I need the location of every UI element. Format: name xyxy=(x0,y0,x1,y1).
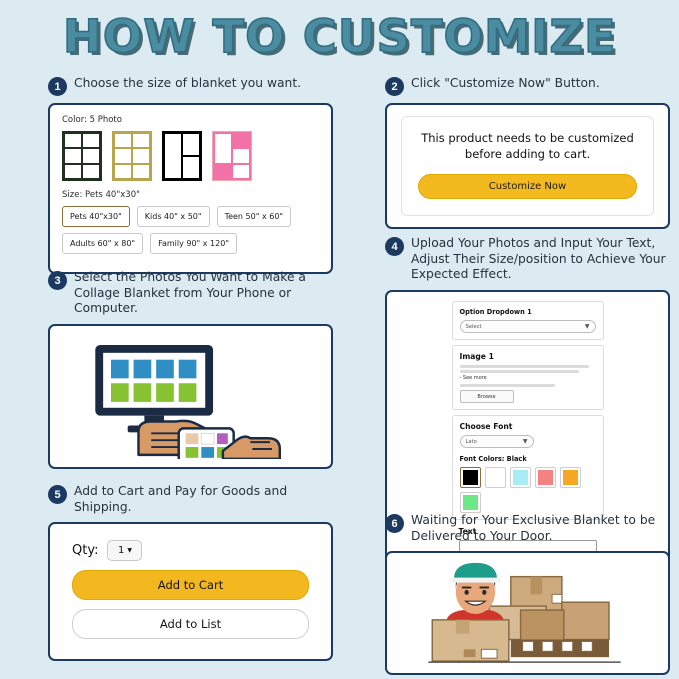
collage-gold-frame-thumb[interactable] xyxy=(112,131,152,181)
add-to-list-button[interactable]: Add to List xyxy=(72,609,309,639)
step-5-header: 5 Add to Cart and Pay for Goods and Ship… xyxy=(48,484,333,515)
font-select[interactable]: Lato ▼ xyxy=(460,435,534,448)
size-label: Size: Pets 40"x30" xyxy=(62,190,319,200)
option-dropdown-value: Select xyxy=(466,324,482,330)
swatch-black[interactable] xyxy=(460,467,481,488)
collage-pink-thumb[interactable] xyxy=(212,131,252,181)
quantity-label: Qty: xyxy=(72,543,98,558)
size-option-kids[interactable]: Kids 40" x 50" xyxy=(137,206,210,227)
chevron-down-icon: ▼ xyxy=(127,548,132,554)
step-2-badge: 2 xyxy=(385,77,404,96)
size-option-pets[interactable]: Pets 40"x30" xyxy=(62,206,130,227)
swatch-white[interactable] xyxy=(485,467,506,488)
step-6-badge: 6 xyxy=(385,514,404,533)
step-1-panel: Color: 5 Photo Size: Pets 40"x30" Pets 4… xyxy=(48,103,333,274)
font-and-colors-section: Choose Font Lato ▼ Font Colors: Black xyxy=(452,415,604,520)
quantity-stepper[interactable]: 1 ▼ xyxy=(107,540,142,561)
customize-now-button[interactable]: Customize Now xyxy=(418,174,637,199)
step-4-header: 4 Upload Your Photos and Input Your Text… xyxy=(385,236,670,283)
step-5: 5 Add to Cart and Pay for Goods and Ship… xyxy=(48,484,333,661)
image-upload-section: Image 1 - See more Browse xyxy=(452,345,604,410)
step-6-header: 6 Waiting for Your Exclusive Blanket to … xyxy=(385,513,670,544)
step-5-panel: Qty: 1 ▼ Add to Cart Add to List xyxy=(48,522,333,661)
upload-note-line xyxy=(460,384,555,387)
swatch-pink[interactable] xyxy=(535,467,556,488)
image-help-line-1 xyxy=(460,365,589,368)
monitor-phone-illustration xyxy=(58,334,323,459)
option-dropdown-select[interactable]: Select ▼ xyxy=(460,320,596,333)
page-title-wrap: HOW TO CUSTOMIZE xyxy=(0,14,679,59)
font-color-swatches xyxy=(460,467,596,513)
customize-notice-card: This product needs to be customized befo… xyxy=(401,116,654,216)
image-help-line-2 xyxy=(460,370,580,373)
step-2: 2 Click "Customize Now" Button. This pro… xyxy=(385,76,670,229)
step-2-header: 2 Click "Customize Now" Button. xyxy=(385,76,670,96)
step-3-title: Select the Photos You Want to Make a Col… xyxy=(74,270,333,317)
how-to-customize-infographic: HOW TO CUSTOMIZE 1 Choose the size of bl… xyxy=(0,0,679,679)
add-to-cart-button[interactable]: Add to Cart xyxy=(72,570,309,600)
size-option-adults[interactable]: Adults 60" x 80" xyxy=(62,233,143,254)
option-dropdown-section: Option Dropdown 1 Select ▼ xyxy=(452,301,604,340)
see-more-link[interactable]: - See more xyxy=(460,375,596,381)
collage-thumbnail-list xyxy=(62,131,319,181)
step-4-badge: 4 xyxy=(385,237,404,256)
delivery-man-illustration xyxy=(393,559,662,667)
step-2-panel: This product needs to be customized befo… xyxy=(385,103,670,229)
swatch-cyan[interactable] xyxy=(510,467,531,488)
collage-black-asymmetric-thumb[interactable] xyxy=(162,131,202,181)
step-3: 3 Select the Photos You Want to Make a C… xyxy=(48,270,333,469)
size-option-teen[interactable]: Teen 50" x 60" xyxy=(217,206,292,227)
step-2-title: Click "Customize Now" Button. xyxy=(411,76,600,92)
size-options-row-2: Adults 60" x 80" Family 90" x 120" xyxy=(62,233,319,254)
swatch-green[interactable] xyxy=(460,492,481,513)
size-option-family[interactable]: Family 90" x 120" xyxy=(150,233,237,254)
image-heading: Image 1 xyxy=(460,352,596,361)
step-3-badge: 3 xyxy=(48,271,67,290)
step-5-title: Add to Cart and Pay for Goods and Shippi… xyxy=(74,484,333,515)
step-1-title: Choose the size of blanket you want. xyxy=(74,76,301,92)
chevron-down-icon: ▼ xyxy=(523,439,528,445)
step-3-panel xyxy=(48,324,333,469)
step-6-panel xyxy=(385,551,670,675)
step-6-title: Waiting for Your Exclusive Blanket to be… xyxy=(411,513,670,544)
swatch-orange[interactable] xyxy=(560,467,581,488)
step-4-title: Upload Your Photos and Input Your Text, … xyxy=(411,236,670,283)
quantity-row: Qty: 1 ▼ xyxy=(72,540,309,561)
font-colors-heading: Font Colors: Black xyxy=(460,455,596,463)
option-dropdown-heading: Option Dropdown 1 xyxy=(460,308,596,316)
page-title: HOW TO CUSTOMIZE xyxy=(63,14,617,59)
choose-font-heading: Choose Font xyxy=(460,422,596,431)
color-label: Color: 5 Photo xyxy=(62,115,319,125)
chevron-down-icon: ▼ xyxy=(585,324,590,330)
browse-button[interactable]: Browse xyxy=(460,390,514,403)
collage-black-frame-thumb[interactable] xyxy=(62,131,102,181)
step-5-badge: 5 xyxy=(48,485,67,504)
step-1-badge: 1 xyxy=(48,77,67,96)
step-1: 1 Choose the size of blanket you want. C… xyxy=(48,76,333,274)
step-1-header: 1 Choose the size of blanket you want. xyxy=(48,76,333,96)
step-3-header: 3 Select the Photos You Want to Make a C… xyxy=(48,270,333,317)
quantity-value: 1 xyxy=(118,545,124,556)
customize-notice-text: This product needs to be customized befo… xyxy=(418,131,637,162)
step-6: 6 Waiting for Your Exclusive Blanket to … xyxy=(385,513,670,675)
size-options-row-1: Pets 40"x30" Kids 40" x 50" Teen 50" x 6… xyxy=(62,206,319,227)
font-value: Lato xyxy=(466,439,477,445)
